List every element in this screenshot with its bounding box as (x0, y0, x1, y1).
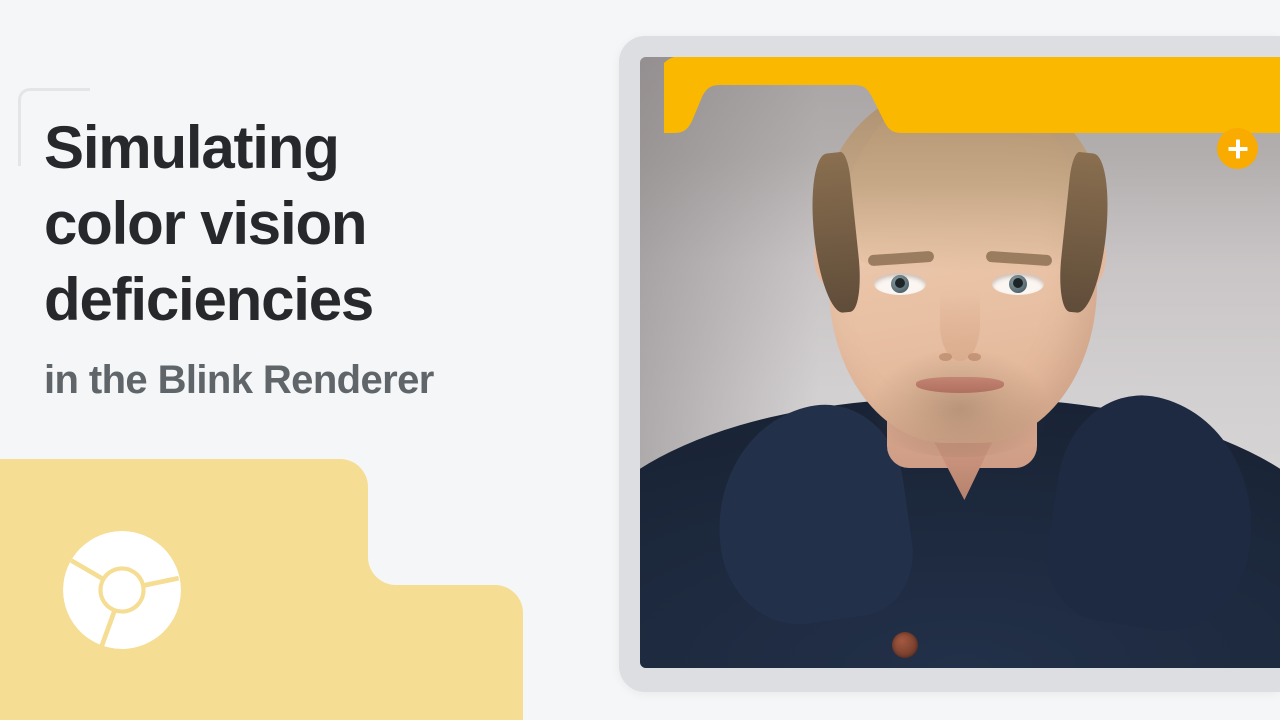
title-block: Simulating color vision deficiencies in … (44, 110, 584, 404)
title-panel: Simulating color vision deficiencies in … (0, 0, 612, 720)
folder-tab-overlay (640, 57, 1280, 167)
nostril-right (968, 353, 981, 361)
add-button[interactable] (1217, 128, 1258, 169)
nose (940, 289, 980, 361)
hoodie-button-upper (892, 632, 918, 658)
page-title-line-3: deficiencies (44, 262, 584, 338)
slide-canvas: Simulating color vision deficiencies in … (0, 0, 1280, 720)
page-title-line-1: Simulating (44, 110, 584, 186)
pupil-right (1013, 278, 1023, 288)
eye-right (992, 273, 1044, 295)
video-frame[interactable] (640, 57, 1280, 668)
plus-icon (1227, 138, 1249, 160)
nostril-left (939, 353, 952, 361)
pupil-left (895, 278, 905, 288)
eye-left (874, 273, 926, 295)
chrome-logo (63, 531, 181, 649)
mouth (916, 377, 1004, 393)
page-subtitle: in the Blink Renderer (44, 356, 584, 404)
video-card[interactable] (619, 36, 1280, 692)
page-title-line-2: color vision (44, 186, 584, 262)
